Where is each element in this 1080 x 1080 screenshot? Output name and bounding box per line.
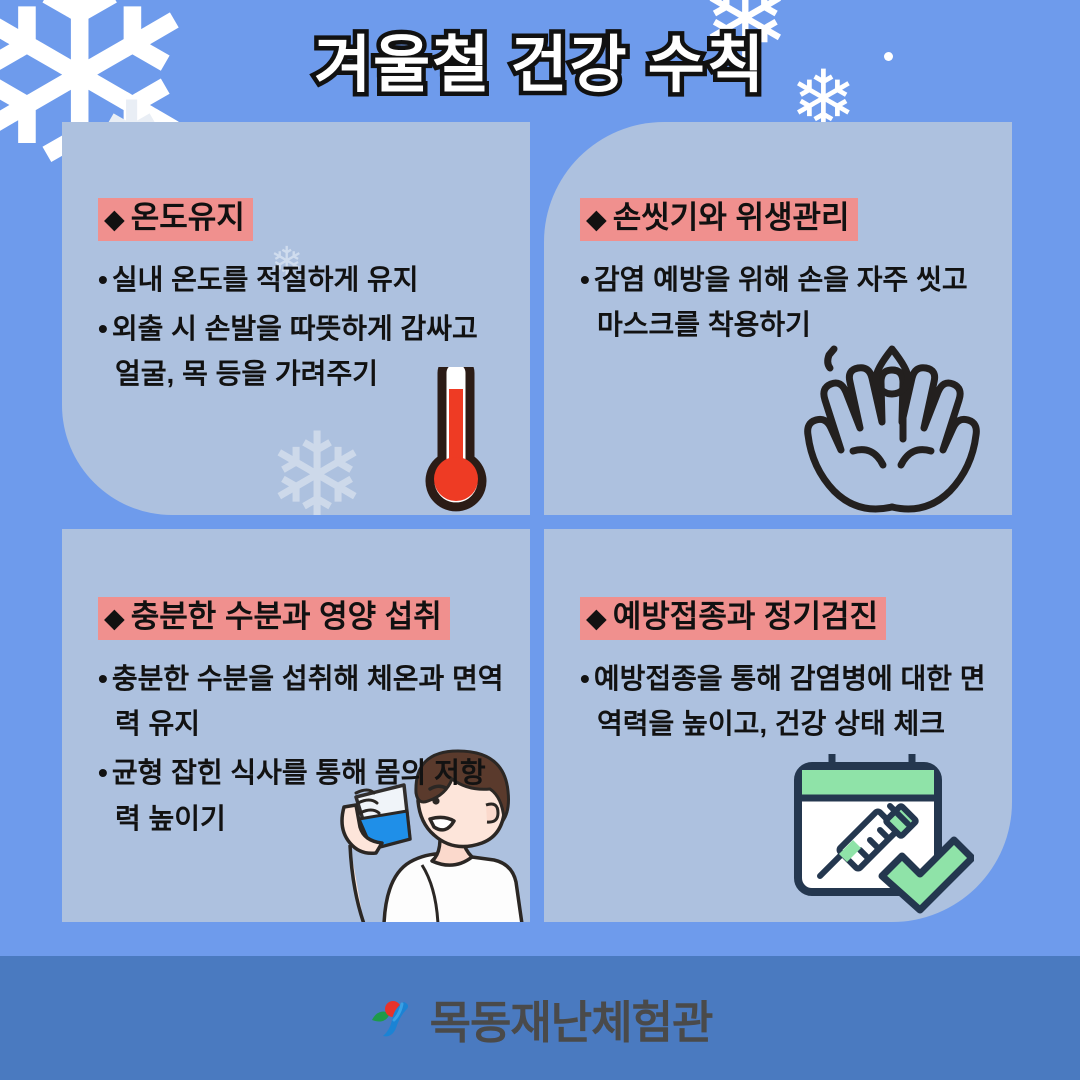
vaccination-calendar-icon — [784, 754, 974, 914]
bullet-marker: • — [98, 313, 108, 344]
tip-bullet-list: •감염 예방을 위해 손을 자주 씻고 마스크를 착용하기 — [580, 257, 986, 348]
bullet-text: 예방접종을 통해 감염병에 대한 면역력을 높이고, 건강 상태 체크 — [594, 663, 986, 739]
bullet-text: 실내 온도를 적절하게 유지 — [112, 264, 419, 295]
diamond-bullet-icon: ◆ — [104, 204, 125, 234]
poster-canvas: ❄ ❄ ❄ ❄ 겨울철 건강 수칙 ❄ ❄ ◆온도유지 •실내 온도를 적절하게… — [0, 0, 1080, 1080]
tip-heading-label: 손씻기와 위생관리 — [613, 200, 850, 235]
bullet-marker: • — [580, 264, 590, 295]
list-item: •균형 잡힌 식사를 통해 몸의 저항력 높이기 — [98, 750, 504, 841]
tip-heading: ◆온도유지 — [98, 198, 253, 241]
tip-bullet-list: •예방접종을 통해 감염병에 대한 면역력을 높이고, 건강 상태 체크 — [580, 656, 986, 747]
snowflake-icon: ❄ — [267, 417, 368, 515]
list-item: •외출 시 손발을 따뜻하게 감싸고 얼굴, 목 등을 가려주기 — [98, 306, 504, 397]
bullet-marker: • — [98, 757, 108, 788]
bullet-marker: • — [98, 264, 108, 295]
tip-card-hydration: ◆충분한 수분과 영양 섭취 •충분한 수분을 섭취해 체온과 면역력 유지 •… — [62, 529, 530, 922]
tip-heading-label: 충분한 수분과 영양 섭취 — [131, 599, 442, 634]
bullet-text: 균형 잡힌 식사를 통해 몸의 저항력 높이기 — [112, 757, 486, 833]
footer-bar: 목동재난체험관 — [0, 956, 1080, 1080]
list-item: •실내 온도를 적절하게 유지 — [98, 257, 504, 302]
tip-bullet-list: •실내 온도를 적절하게 유지 •외출 시 손발을 따뜻하게 감싸고 얼굴, 목… — [98, 257, 504, 397]
diamond-bullet-icon: ◆ — [586, 204, 607, 234]
diamond-bullet-icon: ◆ — [586, 603, 607, 633]
tip-heading: ◆손씻기와 위생관리 — [580, 198, 858, 241]
page-title: 겨울철 건강 수칙 — [0, 14, 1080, 104]
tips-grid: ❄ ❄ ◆온도유지 •실내 온도를 적절하게 유지 •외출 시 손발을 따뜻하게… — [62, 122, 1018, 922]
list-item: •예방접종을 통해 감염병에 대한 면역력을 높이고, 건강 상태 체크 — [580, 656, 986, 747]
footer-organization-name: 목동재난체험관 — [430, 986, 713, 1051]
list-item: •충분한 수분을 섭취해 체온과 면역력 유지 — [98, 656, 504, 747]
yangcheon-emblem-icon — [368, 994, 416, 1042]
tip-heading: ◆예방접종과 정기검진 — [580, 597, 886, 640]
bullet-marker: • — [98, 663, 108, 694]
tip-heading-label: 온도유지 — [131, 200, 245, 235]
bullet-text: 충분한 수분을 섭취해 체온과 면역력 유지 — [112, 663, 504, 739]
list-item: •감염 예방을 위해 손을 자주 씻고 마스크를 착용하기 — [580, 257, 986, 348]
bullet-text: 외출 시 손발을 따뜻하게 감싸고 얼굴, 목 등을 가려주기 — [112, 313, 478, 389]
tip-card-vaccination: ❄ ❄ ◆예방접종과 정기검진 •예방접종을 통해 감염병에 대한 면역력을 높… — [544, 529, 1012, 922]
tip-card-hygiene: ❄ ◆손씻기와 위생관리 •감염 예방을 위해 손을 자주 씻고 마스크를 착용… — [544, 122, 1012, 515]
tip-card-temperature: ❄ ❄ ◆온도유지 •실내 온도를 적절하게 유지 •외출 시 손발을 따뜻하게… — [62, 122, 530, 515]
bullet-marker: • — [580, 663, 590, 694]
bullet-text: 감염 예방을 위해 손을 자주 씻고 마스크를 착용하기 — [594, 264, 968, 340]
washing-hands-icon — [786, 331, 998, 515]
tip-heading: ◆충분한 수분과 영양 섭취 — [98, 597, 450, 640]
tip-heading-label: 예방접종과 정기검진 — [613, 599, 878, 634]
diamond-bullet-icon: ◆ — [104, 603, 125, 633]
tip-bullet-list: •충분한 수분을 섭취해 체온과 면역력 유지 •균형 잡힌 식사를 통해 몸의… — [98, 656, 504, 841]
